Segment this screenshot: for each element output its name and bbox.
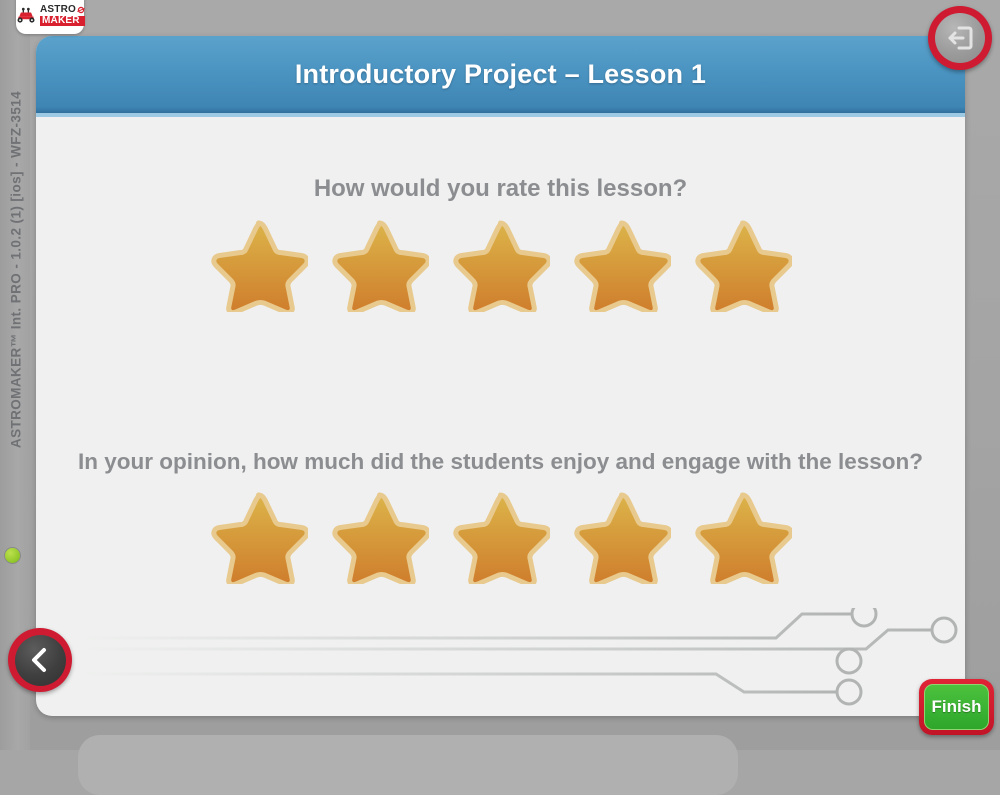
finish-button-label: Finish — [931, 697, 981, 717]
exit-icon — [946, 25, 974, 51]
app-version-label: ASTROMAKER™ Int. PRO - 1.0.2 (1) [ios] -… — [9, 40, 24, 500]
planet-icon — [77, 6, 85, 14]
exit-button[interactable] — [928, 6, 992, 70]
rover-icon — [15, 7, 37, 23]
star-icon-3[interactable] — [451, 217, 550, 312]
circuit-traces-decoration — [76, 608, 965, 716]
star-icon-4[interactable] — [572, 217, 671, 312]
card-body: How would you rate this lesson? — [36, 117, 965, 716]
app-shell: ASTROMAKER™ Int. PRO - 1.0.2 (1) [ios] -… — [0, 0, 1000, 750]
finish-button[interactable]: Finish — [919, 679, 994, 735]
app-logo: ASTRO MAKER — [16, 0, 84, 34]
lesson-card: Introductory Project – Lesson 1 How woul… — [36, 36, 965, 716]
finish-button-face: Finish — [924, 684, 989, 730]
page-title: Introductory Project – Lesson 1 — [295, 59, 706, 90]
star-icon-4[interactable] — [572, 489, 671, 584]
back-button[interactable] — [8, 628, 72, 692]
star-icon-3[interactable] — [451, 489, 550, 584]
question-label-rate-lesson: How would you rate this lesson? — [36, 175, 965, 203]
star-icon-1[interactable] — [209, 217, 308, 312]
question-label-student-engagement: In your opinion, how much did the studen… — [36, 449, 965, 475]
star-icon-5[interactable] — [693, 217, 792, 312]
star-icon-2[interactable] — [330, 489, 429, 584]
rating-stars-rate-lesson[interactable] — [36, 217, 965, 312]
exit-button-face — [935, 13, 985, 63]
logo-maker-label: MAKER — [40, 16, 85, 26]
logo-wordmark: ASTRO MAKER — [40, 5, 85, 26]
card-header: Introductory Project – Lesson 1 — [36, 36, 965, 117]
back-button-face — [15, 635, 66, 686]
connected-status-dot — [5, 548, 20, 563]
rating-stars-student-engagement[interactable] — [36, 489, 965, 584]
star-icon-2[interactable] — [330, 217, 429, 312]
chevron-left-icon — [29, 647, 51, 673]
star-icon-1[interactable] — [209, 489, 308, 584]
logo-astro-label: ASTRO — [40, 5, 76, 15]
device-plate — [78, 735, 738, 795]
logo-astro-text: ASTRO — [40, 5, 85, 15]
star-icon-5[interactable] — [693, 489, 792, 584]
